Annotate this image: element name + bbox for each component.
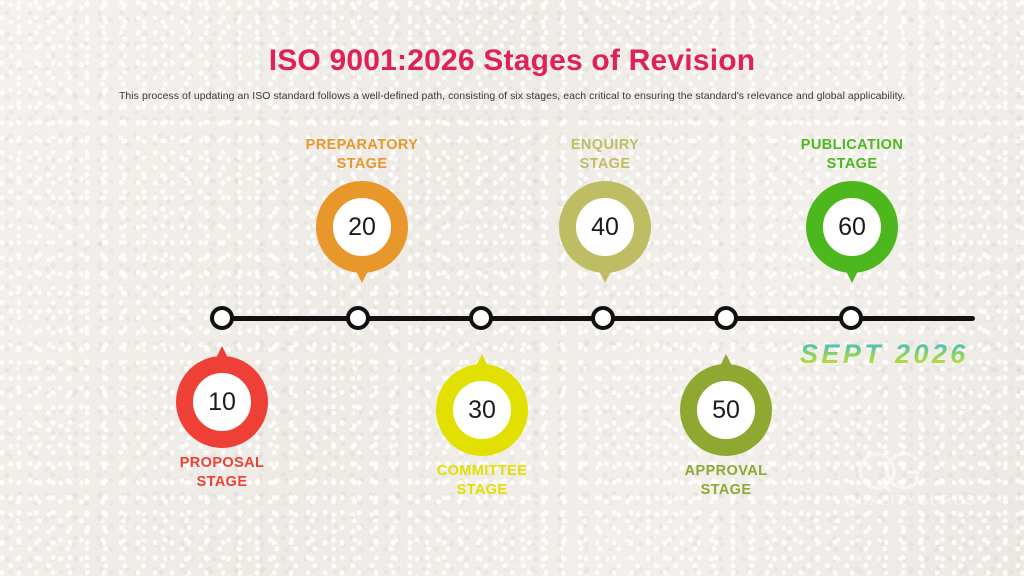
stage-label-line2: STAGE (701, 482, 752, 498)
stage-number-committee: 30 (436, 364, 528, 456)
stage-label-line1: PREPARATORY (306, 137, 419, 153)
stage-pin-enquiry[interactable]: 40 (559, 181, 651, 273)
stage-label-enquiry: ENQUIRY STAGE (505, 136, 705, 174)
stage-label-publication: PUBLICATION STAGE (752, 136, 952, 174)
stage-pin-preparatory[interactable]: 20 (316, 181, 408, 273)
stage-label-line1: ENQUIRY (571, 137, 639, 153)
watermark-text: QUALITYGURUS (845, 492, 977, 509)
stage-pin-committee[interactable]: 30 (436, 364, 528, 456)
stage-label-approval: APPROVAL STAGE (626, 462, 826, 500)
stage-label-committee: COMMITTEE STAGE (382, 462, 582, 500)
stage-label-line1: PROPOSAL (180, 455, 265, 471)
stage-label-line1: COMMITTEE (437, 463, 528, 479)
timeline-node-3 (469, 306, 493, 330)
stage-pin-proposal[interactable]: 10 (176, 356, 268, 448)
stage-label-line2: STAGE (827, 156, 878, 172)
timeline-node-2 (346, 306, 370, 330)
timeline-node-5 (714, 306, 738, 330)
stage-number-approval: 50 (680, 364, 772, 456)
timeline-node-1 (210, 306, 234, 330)
stage-label-line2: STAGE (337, 156, 388, 172)
stage-label-line1: APPROVAL (685, 463, 768, 479)
stage-pin-publication[interactable]: 60 (806, 181, 898, 273)
stage-label-line2: STAGE (580, 156, 631, 172)
stage-number-publication: 60 (806, 181, 898, 273)
stage-label-line1: PUBLICATION (801, 137, 903, 153)
page-title: ISO 9001:2026 Stages of Revision (0, 44, 1024, 78)
sept-2026-annotation: SEPT 2026 (782, 331, 1008, 373)
timeline-node-6 (839, 306, 863, 330)
stage-number-preparatory: 20 (316, 181, 408, 273)
stage-number-proposal: 10 (176, 356, 268, 448)
stage-pin-approval[interactable]: 50 (680, 364, 772, 456)
stage-label-preparatory: PREPARATORY STAGE (262, 136, 462, 174)
watermark-qualitygurus: QUALITYGURUS (845, 447, 995, 509)
stage-number-enquiry: 40 (559, 181, 651, 273)
stage-label-line2: STAGE (197, 474, 248, 490)
stage-label-line2: STAGE (457, 482, 508, 498)
infographic-canvas: ISO 9001:2026 Stages of Revision This pr… (0, 0, 1024, 576)
stage-label-proposal: PROPOSAL STAGE (122, 454, 322, 492)
timeline-node-4 (591, 306, 615, 330)
sept-2026-text: SEPT 2026 (800, 339, 969, 369)
page-subtitle: This process of updating an ISO standard… (0, 90, 1024, 102)
